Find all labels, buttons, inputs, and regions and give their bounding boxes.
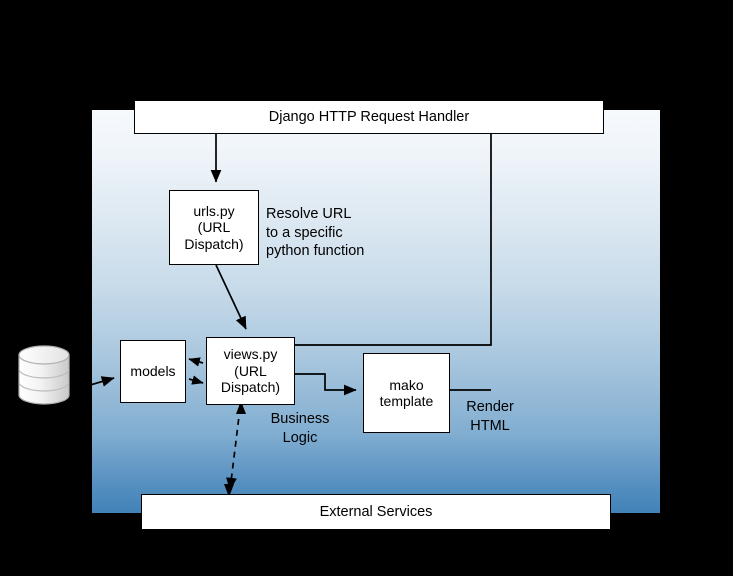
node-urls-py[interactable]: urls.py (URL Dispatch) bbox=[169, 190, 259, 265]
gradient-backdrop-panel bbox=[92, 110, 660, 513]
node-external-services[interactable]: External Services bbox=[141, 494, 611, 530]
node-label: mako template bbox=[380, 377, 434, 410]
node-label: urls.py (URL Dispatch) bbox=[184, 203, 243, 252]
node-views-py[interactable]: views.py (URL Dispatch) bbox=[206, 337, 295, 405]
annotation-render-html: Render HTML bbox=[461, 398, 519, 435]
annotation-business-logic: Business Logic bbox=[269, 410, 331, 447]
node-mako-template[interactable]: mako template bbox=[363, 353, 450, 433]
database-cylinder-icon bbox=[16, 344, 72, 406]
node-django-http-request-handler[interactable]: Django HTTP Request Handler bbox=[134, 100, 604, 134]
diagram-canvas: Django HTTP Request Handler urls.py (URL… bbox=[0, 0, 733, 576]
node-label: views.py (URL Dispatch) bbox=[221, 346, 280, 395]
node-models[interactable]: models bbox=[120, 340, 186, 403]
annotation-resolve-url: Resolve URL to a specific python functio… bbox=[266, 205, 364, 261]
node-label: Django HTTP Request Handler bbox=[269, 109, 469, 126]
node-label: models bbox=[130, 363, 175, 379]
node-label: External Services bbox=[320, 504, 433, 521]
